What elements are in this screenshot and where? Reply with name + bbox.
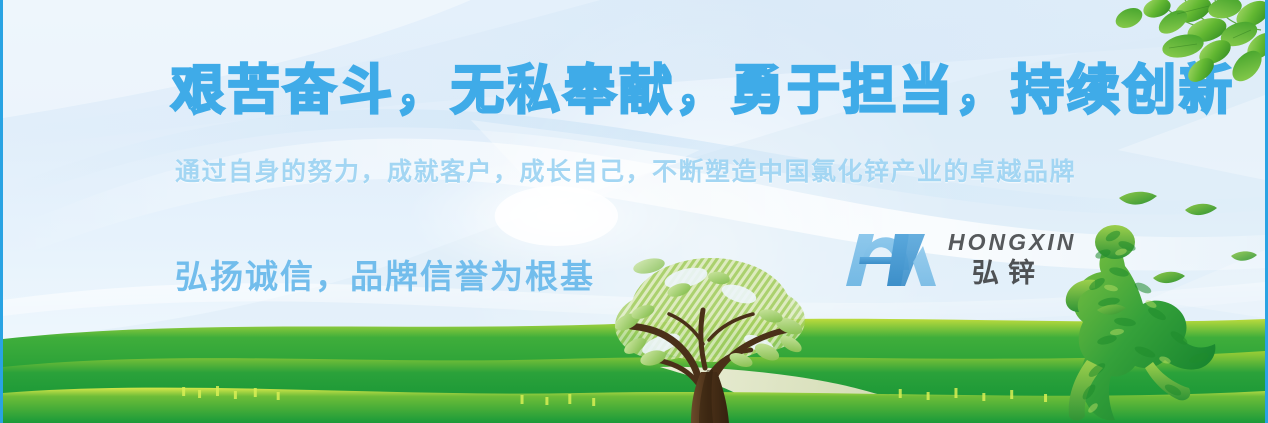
hx-monogram-icon: [843, 228, 939, 290]
banner-secondary-slogan: 弘扬诚信，品牌信誉为根基: [175, 250, 595, 298]
stylized-tree-icon: [591, 248, 826, 423]
flying-leaves-icon: [1035, 170, 1265, 350]
promotional-banner: 艰苦奋斗，无私奉献，勇于担当，持续创新 通过自身的努力，成就客户，成长自己，不断…: [0, 0, 1268, 423]
leaves-top-right-icon: [1065, 0, 1265, 120]
banner-subtitle: 通过自身的努力，成就客户，成长自己，不断塑造中国氯化锌产业的卓越品牌: [175, 152, 1076, 188]
